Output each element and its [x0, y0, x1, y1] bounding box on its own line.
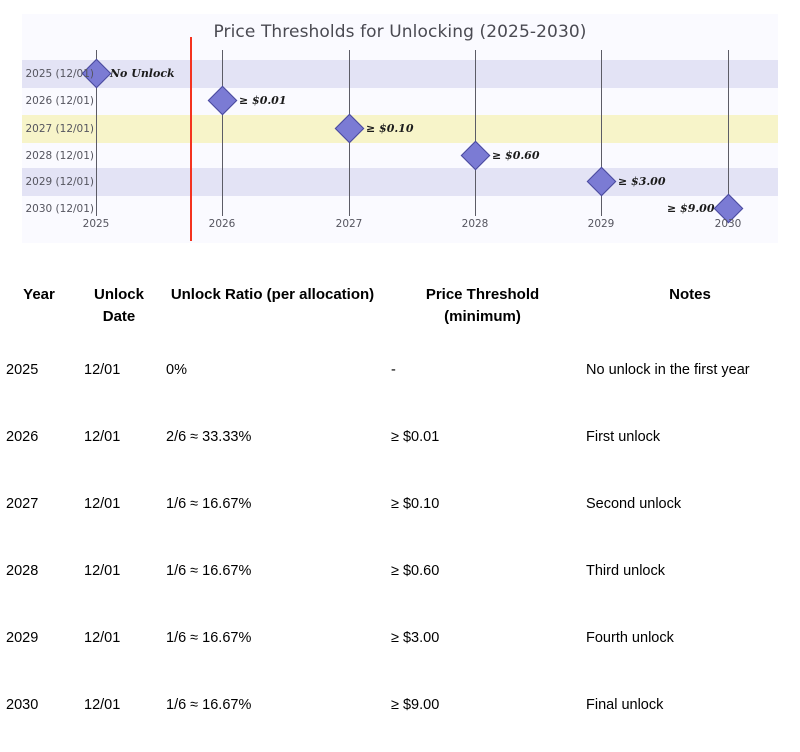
column-header-year: Year [0, 270, 78, 350]
gridline-2028 [475, 50, 476, 216]
table-header-row: Year Unlock Date Unlock Ratio (per alloc… [0, 270, 800, 350]
gridline-2026 [222, 50, 223, 216]
cell-date: 12/01 [78, 350, 160, 417]
cell-notes: Third unlock [580, 551, 800, 618]
x-axis-label-2028: 2028 [462, 218, 489, 230]
x-axis-label-2026: 2026 [209, 218, 236, 230]
table-row: 2030 12/01 1/6 ≈ 16.67% ≥ $9.00 Final un… [0, 685, 800, 752]
column-header-unlock-ratio: Unlock Ratio (per allocation) [160, 270, 385, 350]
x-axis-label-2027: 2027 [336, 218, 363, 230]
cell-year: 2030 [0, 685, 78, 752]
gridline-2030 [728, 50, 729, 216]
cell-ratio: 1/6 ≈ 16.67% [160, 484, 385, 551]
data-point-label-2026: ≥ $0.01 [239, 94, 287, 107]
cell-date: 12/01 [78, 685, 160, 752]
cell-price: ≥ $9.00 [385, 685, 580, 752]
data-point-2028 [461, 141, 491, 171]
table-row: 2026 12/01 2/6 ≈ 33.33% ≥ $0.01 First un… [0, 417, 800, 484]
cell-notes: No unlock in the first year [580, 350, 800, 417]
table-row: 2028 12/01 1/6 ≈ 16.67% ≥ $0.60 Third un… [0, 551, 800, 618]
cell-year: 2025 [0, 350, 78, 417]
cell-price: ≥ $3.00 [385, 618, 580, 685]
column-header-notes: Notes [580, 270, 800, 350]
cell-notes: Final unlock [580, 685, 800, 752]
data-point-label-2029: ≥ $3.00 [618, 175, 666, 188]
cell-date: 12/01 [78, 484, 160, 551]
table-row: 2027 12/01 1/6 ≈ 16.67% ≥ $0.10 Second u… [0, 484, 800, 551]
data-point-label-2028: ≥ $0.60 [492, 149, 540, 162]
cell-year: 2027 [0, 484, 78, 551]
chart-title: Price Thresholds for Unlocking (2025-203… [22, 22, 778, 42]
cell-date: 12/01 [78, 551, 160, 618]
cell-ratio: 2/6 ≈ 33.33% [160, 417, 385, 484]
cell-year: 2028 [0, 551, 78, 618]
column-header-price-threshold: Price Threshold (minimum) [385, 270, 580, 350]
y-axis-label-2027: 2027 (12/01) [25, 123, 94, 135]
cell-ratio: 1/6 ≈ 16.67% [160, 551, 385, 618]
y-axis-label-2028: 2028 (12/01) [25, 150, 94, 162]
cell-price: ≥ $0.10 [385, 484, 580, 551]
y-axis-label-2025: 2025 (12/01) [25, 68, 94, 80]
cell-date: 12/01 [78, 618, 160, 685]
x-axis-label-2030: 2030 [715, 218, 742, 230]
cell-price: - [385, 350, 580, 417]
cell-year: 2026 [0, 417, 78, 484]
column-header-unlock-date: Unlock Date [78, 270, 160, 350]
cell-ratio: 1/6 ≈ 16.67% [160, 618, 385, 685]
current-date-marker-line [190, 37, 192, 241]
unlock-schedule-table: Year Unlock Date Unlock Ratio (per alloc… [0, 270, 800, 752]
cell-notes: Second unlock [580, 484, 800, 551]
price-threshold-chart: Price Thresholds for Unlocking (2025-203… [22, 14, 778, 243]
data-point-2026 [208, 86, 238, 116]
y-axis-label-2026: 2026 (12/01) [25, 95, 94, 107]
cell-date: 12/01 [78, 417, 160, 484]
x-axis-label-2025: 2025 [83, 218, 110, 230]
y-axis-label-2029: 2029 (12/01) [25, 176, 94, 188]
cell-notes: Fourth unlock [580, 618, 800, 685]
data-point-label-2030: ≥ $9.00 [667, 202, 715, 215]
table-row: 2029 12/01 1/6 ≈ 16.67% ≥ $3.00 Fourth u… [0, 618, 800, 685]
y-axis-label-2030: 2030 (12/01) [25, 203, 94, 215]
x-axis-label-2029: 2029 [588, 218, 615, 230]
cell-price: ≥ $0.60 [385, 551, 580, 618]
cell-notes: First unlock [580, 417, 800, 484]
cell-year: 2029 [0, 618, 78, 685]
cell-ratio: 1/6 ≈ 16.67% [160, 685, 385, 752]
cell-price: ≥ $0.01 [385, 417, 580, 484]
data-point-label-2025: No Unlock [110, 67, 175, 80]
table-row: 2025 12/01 0% - No unlock in the first y… [0, 350, 800, 417]
data-point-label-2027: ≥ $0.10 [366, 122, 414, 135]
cell-ratio: 0% [160, 350, 385, 417]
y-axis-labels: 2025 (12/01) 2026 (12/01) 2027 (12/01) 2… [22, 14, 94, 243]
